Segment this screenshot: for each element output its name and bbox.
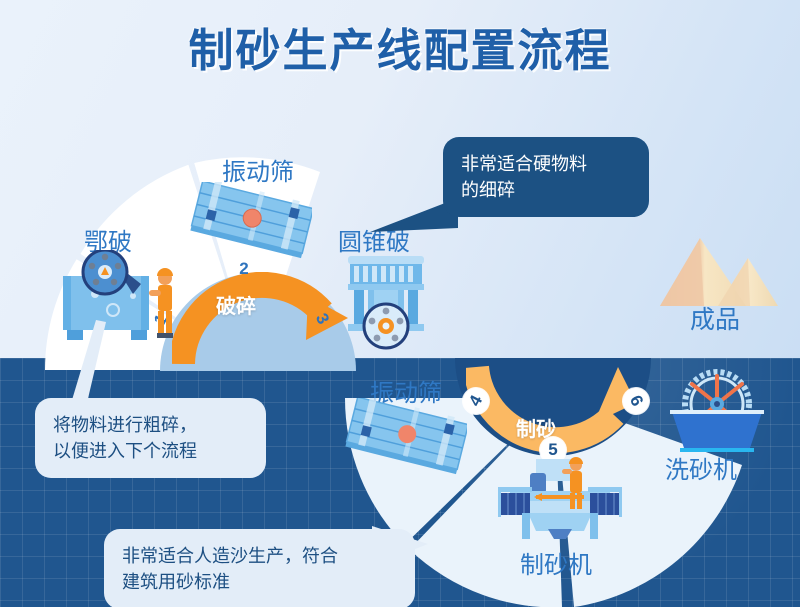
sand-making-note: 非常适合人造沙生产，符合 建筑用砂标准	[104, 529, 415, 607]
sand-washer-icon	[662, 368, 772, 458]
infographic-canvas: 制砂生产线配置流程 破碎 1 2 3 鄂破 振动筛 圆锥破	[0, 0, 800, 607]
jaw-crusher-note: 将物料进行粗碎， 以便进入下个流程	[35, 398, 266, 478]
vibrating-screen-icon	[190, 182, 312, 264]
product-label: 成品	[690, 300, 740, 336]
cone-crusher-note: 非常适合硬物料 的细碎	[443, 137, 649, 217]
page-title: 制砂生产线配置流程	[0, 14, 800, 79]
sand-making-machine-icon	[492, 455, 628, 545]
vibrating-screen-icon-lower	[345, 398, 467, 480]
crushing-hub-label: 破碎	[216, 290, 256, 319]
sand-making-item-label-5: 制砂机	[520, 545, 592, 580]
